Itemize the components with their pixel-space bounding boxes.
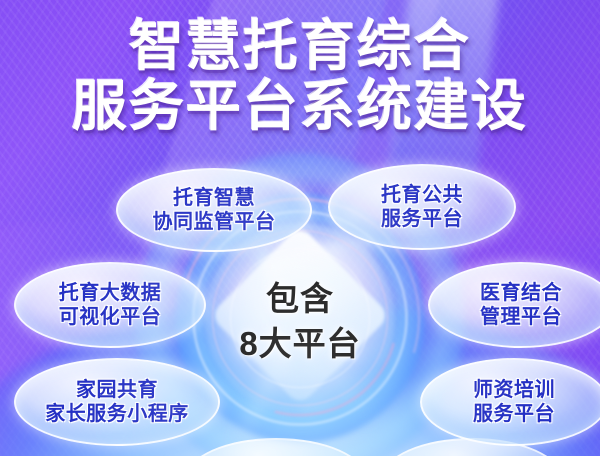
- platform-label-line1: 家园共育: [76, 378, 158, 402]
- platform-bubble-public-service[interactable]: 托育公共 服务平台: [328, 164, 516, 250]
- platform-bubble-medical-education[interactable]: 医育结合 管理平台: [428, 262, 600, 348]
- platform-bubble-teacher-training[interactable]: 师资培训 服务平台: [420, 358, 600, 446]
- title-line-2: 服务平台系统建设: [0, 78, 600, 134]
- center-caption-line2: 8大平台: [239, 325, 360, 364]
- platform-label-line1: 师资培训: [473, 378, 555, 402]
- platform-label-line1: 托育智慧: [173, 186, 255, 210]
- platform-bubble-home-school-miniapp[interactable]: 家园共育 家长服务小程序: [14, 358, 220, 446]
- center-caption: 包含 8大平台: [239, 280, 360, 364]
- platform-label-line2: 家长服务小程序: [45, 402, 189, 426]
- poster-canvas: 智慧托育综合 服务平台系统建设 托育智慧 协同监管平台 托育公共 服务平台 托育…: [0, 0, 600, 456]
- platform-label-line1: 医育结合: [480, 281, 562, 305]
- platform-label-line2: 服务平台: [473, 402, 555, 426]
- platform-label-line1: 托育大数据: [59, 281, 162, 305]
- platform-bubble-collab-supervision[interactable]: 托育智慧 协同监管平台: [116, 168, 312, 252]
- platform-label-line2: 管理平台: [480, 305, 562, 329]
- center-caption-line1: 包含: [239, 280, 360, 319]
- platform-label-line2: 服务平台: [381, 207, 463, 231]
- platform-label-line2: 可视化平台: [59, 305, 162, 329]
- title-line-1: 智慧托育综合: [0, 18, 600, 74]
- poster-title: 智慧托育综合 服务平台系统建设: [0, 18, 600, 134]
- platform-label-line2: 协同监管平台: [153, 210, 276, 234]
- platform-bubble-bigdata-visual[interactable]: 托育大数据 可视化平台: [14, 262, 206, 348]
- platform-label-line1: 托育公共: [381, 183, 463, 207]
